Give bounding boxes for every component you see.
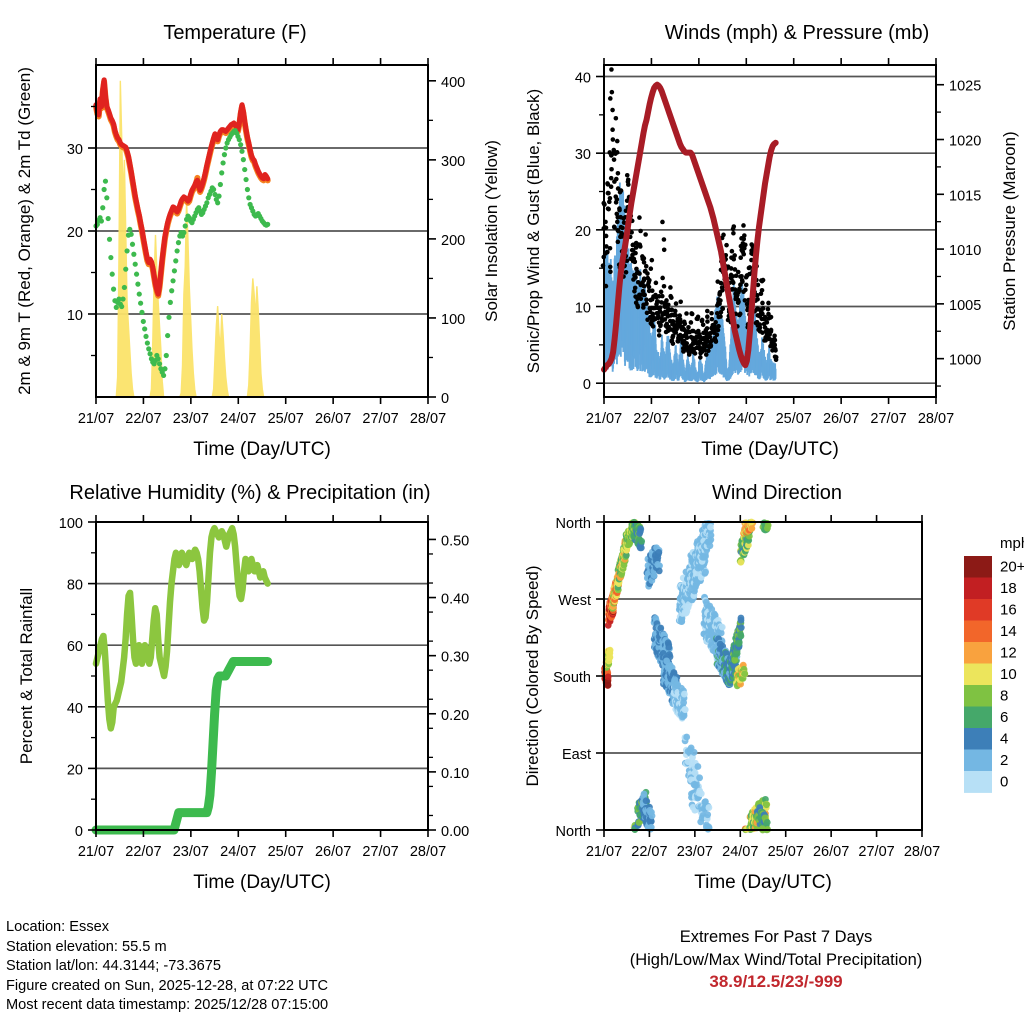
dewpoint-point xyxy=(124,248,129,253)
colorbar-label: 4 xyxy=(1000,730,1008,747)
gust-point xyxy=(682,319,687,324)
gust-point xyxy=(660,220,665,225)
rh-precip-chart: 21/0722/0723/0724/0725/0726/0727/0728/07… xyxy=(0,460,512,900)
extremes-summary: Extremes For Past 7 Days (High/Low/Max W… xyxy=(528,926,1024,992)
gust-point xyxy=(724,243,729,248)
gust-point xyxy=(608,270,613,275)
winds-pressure-chart: 21/0722/0723/0724/0725/0726/0727/0728/07… xyxy=(512,0,1024,460)
temperature-xtick-label: 28/07 xyxy=(410,411,446,427)
solar-ytick-label: 200 xyxy=(441,233,465,249)
gust-point xyxy=(643,232,648,237)
gust-point xyxy=(708,344,713,349)
colorbar-label: 2 xyxy=(1000,752,1008,769)
solar-insolation-series xyxy=(96,81,268,397)
gust-point xyxy=(615,139,620,144)
gust-point xyxy=(612,225,617,230)
dewpoint-point xyxy=(100,205,105,210)
gust-point xyxy=(741,252,746,257)
dewpoint-point xyxy=(111,287,116,292)
temperature-xtick-label: 23/07 xyxy=(173,411,209,427)
gust-point xyxy=(609,67,614,72)
colorbar-label: 8 xyxy=(1000,687,1008,704)
rh-xtick-label: 26/07 xyxy=(315,844,351,860)
gust-point xyxy=(720,288,725,293)
gust-point xyxy=(619,188,624,193)
gust-point xyxy=(735,293,740,298)
colorbar-band xyxy=(964,728,992,750)
pressure-yaxis-title: Station Pressure (Maroon) xyxy=(1000,131,1019,330)
colorbar-band xyxy=(964,556,992,578)
wind-direction-point xyxy=(605,673,612,680)
gust-point xyxy=(718,298,723,303)
pressure-ytick-label: 1015 xyxy=(949,188,981,204)
gust-point xyxy=(765,320,770,325)
gust-point xyxy=(689,320,694,325)
gust-point xyxy=(659,290,664,295)
gust-point xyxy=(609,184,614,189)
wind-direction-point xyxy=(706,804,713,811)
colorbar-band xyxy=(964,642,992,664)
precip-ytick-label: 0.20 xyxy=(441,708,469,724)
gust-point xyxy=(743,288,748,293)
rh-yaxis-title: Percent & Total Rainfall xyxy=(17,588,36,764)
dewpoint-point xyxy=(162,366,167,371)
gust-point xyxy=(684,311,689,316)
gust-point xyxy=(605,250,610,255)
gust-point xyxy=(740,279,745,284)
gust-point xyxy=(650,258,655,263)
dewpoint-point xyxy=(123,267,128,272)
rh-xtick-label: 25/07 xyxy=(268,844,304,860)
wind-direction-xtick-label: 25/07 xyxy=(768,844,804,860)
gust-point xyxy=(654,281,659,286)
gust-point xyxy=(686,325,691,330)
dewpoint-point xyxy=(103,179,108,184)
colorbar-title: mph xyxy=(1000,535,1024,552)
dewpoint-point xyxy=(108,255,113,260)
wind-direction-point xyxy=(738,633,745,640)
solar-ytick-label: 0 xyxy=(441,391,449,407)
gust-point xyxy=(700,318,705,323)
dewpoint-point xyxy=(143,334,148,339)
gust-point xyxy=(671,341,676,346)
wind-direction-point xyxy=(651,572,658,579)
rh-ytick-label: 0 xyxy=(75,824,83,840)
dewpoint-point xyxy=(183,223,188,228)
rh-ytick-label: 80 xyxy=(67,578,83,594)
winds-xtick-label: 28/07 xyxy=(918,411,954,427)
panel-temperature: Temperature (F) 21/0722/0723/0724/0725/0… xyxy=(0,0,512,460)
gust-point xyxy=(710,317,715,322)
metadata-created: Figure created on Sun, 2025-12-28, at 07… xyxy=(6,977,328,997)
colorbar-label: 16 xyxy=(1000,601,1017,618)
gust-point xyxy=(645,271,650,276)
gust-point xyxy=(646,280,651,285)
winds-xaxis-title: Time (Day/UTC) xyxy=(701,439,839,460)
wind-direction-ytick-label: East xyxy=(562,747,591,763)
winds-xtick-label: 24/07 xyxy=(728,411,764,427)
gust-point xyxy=(636,305,641,310)
dewpoint-point xyxy=(120,296,125,301)
gust-point xyxy=(615,150,620,155)
colorbar-band xyxy=(964,685,992,707)
precip-ytick-label: 0.40 xyxy=(441,592,469,608)
wind-direction-point xyxy=(656,568,663,575)
temperature-xtick-label: 24/07 xyxy=(220,411,256,427)
rh-ytick-label: 20 xyxy=(67,762,83,778)
winds-xtick-label: 25/07 xyxy=(776,411,812,427)
wind-direction-point xyxy=(649,812,656,819)
gust-point xyxy=(615,220,620,225)
temperature-xtick-label: 22/07 xyxy=(125,411,161,427)
rh-xtick-label: 28/07 xyxy=(410,844,446,860)
gust-point xyxy=(642,260,647,265)
gust-point xyxy=(668,294,673,299)
gust-point xyxy=(742,246,747,251)
wind-direction-xtick-label: 27/07 xyxy=(858,844,894,860)
wind-direction-point xyxy=(637,526,644,533)
rh-xtick-label: 24/07 xyxy=(220,844,256,860)
gust-point xyxy=(608,196,613,201)
colorbar-label: 20+ xyxy=(1000,558,1024,575)
temperature-xaxis-title: Time (Day/UTC) xyxy=(193,439,331,460)
gust-point xyxy=(730,279,735,284)
gust-point xyxy=(738,255,743,260)
dewpoint-point xyxy=(215,200,220,205)
wind-direction-chart: 21/0722/0723/0724/0725/0726/0727/0728/07… xyxy=(512,460,1024,900)
gust-point xyxy=(736,270,741,275)
gust-point xyxy=(674,301,679,306)
dewpoint-point xyxy=(131,252,136,257)
dewpoint-point xyxy=(106,216,111,221)
gust-point xyxy=(698,355,703,360)
gust-point xyxy=(697,345,702,350)
dewpoint-point xyxy=(147,351,152,356)
dewpoint-point xyxy=(129,232,134,237)
gust-point xyxy=(732,253,737,258)
precip-ytick-label: 0.50 xyxy=(441,533,469,549)
colorbar-label: 12 xyxy=(1000,644,1017,661)
gust-point xyxy=(737,313,742,318)
gust-point xyxy=(624,270,629,275)
winds-ytick-label: 30 xyxy=(575,147,591,163)
rh-ytick-label: 40 xyxy=(67,701,83,717)
gust-point xyxy=(642,284,647,289)
gust-point xyxy=(713,320,718,325)
rh-xtick-label: 21/07 xyxy=(78,844,114,860)
colorbar-label: 6 xyxy=(1000,709,1008,726)
gust-point xyxy=(761,306,766,311)
wind-direction-point xyxy=(708,532,715,539)
gust-point xyxy=(609,176,614,181)
wind-direction-point xyxy=(738,624,745,631)
dewpoint-point xyxy=(137,291,142,296)
dewpoint-point xyxy=(127,227,132,232)
gust-point xyxy=(678,317,683,322)
wind-direction-xtick-label: 28/07 xyxy=(904,844,940,860)
winds-pressure-title: Winds (mph) & Pressure (mb) xyxy=(562,22,1024,45)
gust-point xyxy=(644,301,649,306)
colorbar-band xyxy=(964,707,992,729)
wind-direction-point xyxy=(704,811,711,818)
temperature-chart: 21/0722/0723/0724/0725/0726/0727/0728/07… xyxy=(0,0,512,460)
gust-point xyxy=(736,300,741,305)
gust-point xyxy=(760,301,765,306)
gust-point xyxy=(693,351,698,356)
winds-xtick-label: 23/07 xyxy=(681,411,717,427)
gust-point xyxy=(716,328,721,333)
gust-point xyxy=(657,333,662,338)
gust-point xyxy=(617,208,622,213)
precip-ytick-label: 0.10 xyxy=(441,766,469,782)
dewpoint-point xyxy=(170,278,175,283)
dewpoint-point xyxy=(145,340,150,345)
gust-point xyxy=(715,332,720,337)
rh-ytick-label: 60 xyxy=(67,639,83,655)
gust-point xyxy=(695,317,700,322)
wind-direction-point xyxy=(719,624,726,631)
gust-point xyxy=(664,298,669,303)
rh-ytick-label: 100 xyxy=(59,516,83,532)
rh-xaxis-title: Time (Day/UTC) xyxy=(193,872,331,893)
colorbar-label: 18 xyxy=(1000,580,1017,597)
winds-yaxis-title: Sonic/Prop Wind & Gust (Blue, Black) xyxy=(524,89,543,373)
dewpoint-point xyxy=(110,272,115,277)
dewpoint-point xyxy=(104,195,109,200)
dewpoint-point xyxy=(241,157,246,162)
dewpoint-point xyxy=(223,145,228,150)
dewpoint-point xyxy=(102,187,107,192)
dewpoint-point xyxy=(181,230,186,235)
gust-point xyxy=(685,335,690,340)
gust-point xyxy=(706,348,711,353)
gust-point xyxy=(620,226,625,231)
gust-point xyxy=(721,233,726,238)
dewpoint-point xyxy=(222,152,227,157)
gust-point xyxy=(660,276,665,281)
extremes-heading: Extremes For Past 7 Days xyxy=(528,926,1024,949)
wind-direction-yaxis-title: Direction (Colored By Speed) xyxy=(523,565,542,786)
dewpoint-point xyxy=(146,346,151,351)
dewpoint-point xyxy=(243,177,248,182)
wind-direction-point xyxy=(731,657,738,664)
gust-point xyxy=(713,338,718,343)
gust-point xyxy=(741,237,746,242)
dewpoint-point xyxy=(218,182,223,187)
gust-point xyxy=(769,328,774,333)
wind-direction-ytick-label: South xyxy=(553,670,591,686)
gust-point xyxy=(760,279,765,284)
dewpoint-point xyxy=(239,149,244,154)
weather-dashboard: Temperature (F) 21/0722/0723/0724/0725/0… xyxy=(0,0,1024,1024)
wind-direction-point xyxy=(691,749,698,756)
solar-ytick-label: 300 xyxy=(441,154,465,170)
temperature-xtick-label: 25/07 xyxy=(268,411,304,427)
colorbar-label: 14 xyxy=(1000,623,1017,640)
gust-point xyxy=(606,191,611,196)
gust-point xyxy=(605,181,610,186)
gust-point xyxy=(633,251,638,256)
gust-point xyxy=(608,246,613,251)
gust-point xyxy=(773,348,778,353)
gust-point xyxy=(772,333,777,338)
gust-point xyxy=(766,307,771,312)
wind-direction-xtick-label: 22/07 xyxy=(631,844,667,860)
winds-ytick-label: 20 xyxy=(575,224,591,240)
gust-point xyxy=(705,309,710,314)
wind-direction-point xyxy=(695,763,702,770)
gust-point xyxy=(673,309,678,314)
wind-direction-xtick-label: 26/07 xyxy=(813,844,849,860)
gust-point xyxy=(614,200,619,205)
gust-point xyxy=(731,224,736,229)
rh-xtick-label: 27/07 xyxy=(362,844,398,860)
wind-direction-point xyxy=(606,654,613,661)
gust-point xyxy=(668,285,673,290)
gust-point xyxy=(610,90,615,95)
gust-point xyxy=(647,285,652,290)
dewpoint-point xyxy=(161,373,166,378)
dewpoint-point xyxy=(204,200,209,205)
dewpoint-point xyxy=(166,315,171,320)
wind-direction-point xyxy=(735,640,742,647)
wind-direction-point xyxy=(741,670,748,677)
wind-direction-point xyxy=(764,819,771,826)
gust-point xyxy=(731,231,736,236)
wind-direction-ytick-label: West xyxy=(558,593,591,609)
wind-direction-point xyxy=(763,801,770,808)
pressure-ytick-label: 1000 xyxy=(949,353,981,369)
gust-point xyxy=(632,289,637,294)
pressure-ytick-label: 1010 xyxy=(949,243,981,259)
temperature-title: Temperature (F) xyxy=(0,22,470,45)
rh-xtick-label: 23/07 xyxy=(173,844,209,860)
wind-direction-ytick-label: North xyxy=(556,516,591,532)
gust-point xyxy=(616,240,621,245)
gust-point xyxy=(658,324,663,329)
dewpoint-point xyxy=(139,310,144,315)
dewpoint-point xyxy=(107,237,112,242)
colorbar-label: 0 xyxy=(1000,773,1008,790)
wind-direction-point xyxy=(607,647,614,654)
metadata-location: Location: Essex xyxy=(6,918,328,938)
dewpoint-point xyxy=(219,170,224,175)
gust-point xyxy=(644,264,649,269)
panel-rh-precip: Relative Humidity (%) & Precipitation (i… xyxy=(0,460,512,900)
gust-point xyxy=(606,207,611,212)
colorbar-band xyxy=(964,578,992,600)
metadata-timestamp: Most recent data timestamp: 2025/12/28 0… xyxy=(6,996,328,1016)
gust-point xyxy=(766,301,771,306)
wind-direction-point xyxy=(696,774,703,781)
gust-point xyxy=(720,306,725,311)
wind-direction-point xyxy=(698,790,705,797)
gust-point xyxy=(741,223,746,228)
temperature-xtick-label: 27/07 xyxy=(362,411,398,427)
gust-point xyxy=(642,293,647,298)
gust-point xyxy=(747,266,752,271)
gust-point xyxy=(609,167,614,172)
colorbar-band xyxy=(964,771,992,793)
dewpoint-point xyxy=(138,301,143,306)
temperature-ytick-label: 20 xyxy=(67,225,83,241)
dewpoint-point xyxy=(157,361,162,366)
temperature-yaxis-title: 2m & 9m T (Red, Orange) & 2m Td (Green) xyxy=(15,67,34,395)
dewpoint-point xyxy=(220,160,225,165)
dewpoint-point xyxy=(172,268,177,273)
extremes-subheading: (High/Low/Max Wind/Total Precipitation) xyxy=(528,949,1024,972)
dewpoint-point xyxy=(169,288,174,293)
gust-point xyxy=(662,248,667,253)
colorbar-label: 10 xyxy=(1000,666,1017,683)
gust-point xyxy=(608,96,613,101)
winds-xtick-label: 21/07 xyxy=(586,411,622,427)
dewpoint-point xyxy=(265,222,270,227)
wind-direction-point xyxy=(657,625,664,632)
wind-direction-point xyxy=(638,538,645,545)
gust-point xyxy=(638,229,643,234)
dewpoint-point xyxy=(175,248,180,253)
gust-point xyxy=(611,137,616,142)
dewpoint-point xyxy=(242,167,247,172)
gust-point xyxy=(655,299,660,304)
dewpoint-point xyxy=(135,282,140,287)
colorbar-band xyxy=(964,621,992,643)
solar-ytick-label: 400 xyxy=(441,75,465,91)
extremes-value: 38.9/12.5/23/-999 xyxy=(528,972,1024,992)
wind-direction-title: Wind Direction xyxy=(542,482,1012,505)
dewpoint-point xyxy=(130,242,135,247)
wind-speed-colorbar: 20+181614121086420mph xyxy=(964,535,1024,793)
gust-point xyxy=(660,294,665,299)
metadata-elevation: Station elevation: 55.5 m xyxy=(6,938,328,958)
metadata-latlon: Station lat/lon: 44.3144; -73.3675 xyxy=(6,957,328,977)
gust-point xyxy=(614,116,619,121)
wind-direction-point xyxy=(655,549,662,556)
temperature-xtick-label: 21/07 xyxy=(78,411,114,427)
gust-point xyxy=(639,296,644,301)
colorbar-band xyxy=(964,599,992,621)
gust-point xyxy=(690,312,695,317)
gust-point xyxy=(709,311,714,316)
wind-direction-ytick-label: North xyxy=(556,824,591,840)
dewpoint-point xyxy=(133,262,138,267)
wind-direction-point xyxy=(666,644,673,651)
gust-point xyxy=(701,323,706,328)
wind-direction-point xyxy=(707,524,714,531)
dewpoint-point xyxy=(114,305,119,310)
winds-xtick-label: 26/07 xyxy=(823,411,859,427)
gust-point xyxy=(686,349,691,354)
dewpoint-point xyxy=(142,326,147,331)
gust-point xyxy=(651,324,656,329)
gust-point xyxy=(662,237,667,242)
dewpoint-point xyxy=(134,272,139,277)
pressure-ytick-label: 1005 xyxy=(949,298,981,314)
dewpoint-point xyxy=(237,137,242,142)
wind-direction-point xyxy=(683,734,690,741)
colorbar-band xyxy=(964,664,992,686)
wind-direction-xaxis-title: Time (Day/UTC) xyxy=(694,872,832,893)
dewpoint-point xyxy=(164,353,169,358)
gust-point xyxy=(642,256,647,261)
dewpoint-point xyxy=(156,356,161,361)
gust-point xyxy=(626,177,631,182)
dewpoint-point xyxy=(216,194,221,199)
temperature-ytick-label: 10 xyxy=(67,308,83,324)
gust-point xyxy=(737,288,742,293)
colorbar-band xyxy=(964,750,992,772)
